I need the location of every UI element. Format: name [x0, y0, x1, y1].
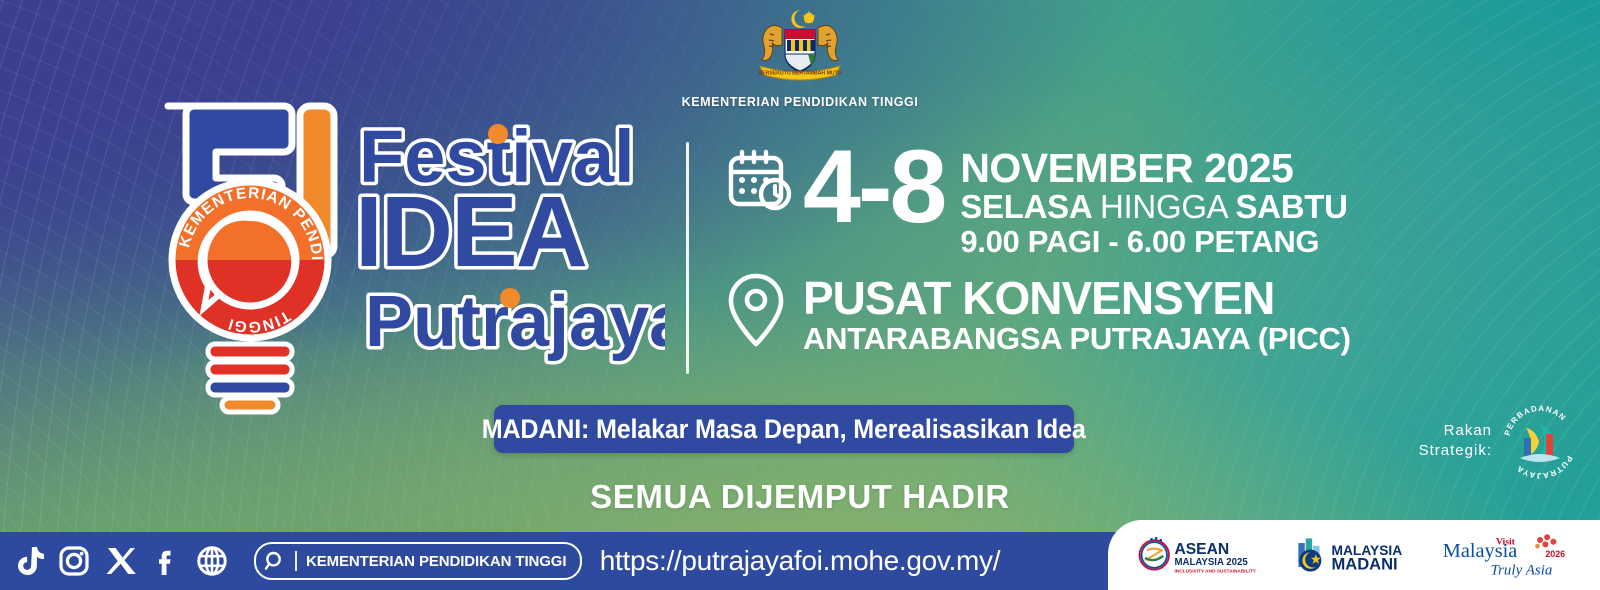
- pp-ring-top: PERBADANAN: [1503, 404, 1568, 437]
- venue-line-1: PUSAT KONVENSYEN: [803, 275, 1351, 321]
- asean-line-1: ASEAN: [1175, 541, 1230, 558]
- tiktok-icon[interactable]: [10, 543, 46, 579]
- putrajaya-j-dot: [500, 288, 520, 308]
- vertical-divider: [686, 142, 689, 374]
- event-month-year: NOVEMBER 2025: [960, 148, 1347, 189]
- rakan-line-2: Strategik:: [1419, 441, 1492, 461]
- festival-i-dot: [488, 124, 508, 144]
- malaysia-madani-logo: MALAYSIA MADANI: [1291, 532, 1420, 578]
- venue-line-2: ANTARABANGSA PUTRAJAYA (PICC): [803, 321, 1351, 358]
- date-row: 4-8 NOVEMBER 2025 SELASA HINGGA SABTU 9.…: [725, 146, 1425, 259]
- map-pin-icon: [725, 271, 787, 349]
- madani-line-2: MADANI: [1332, 555, 1398, 574]
- event-details: 4-8 NOVEMBER 2025 SELASA HINGGA SABTU 9.…: [725, 146, 1425, 358]
- rakan-line-1: Rakan: [1419, 421, 1492, 441]
- svg-text:BERSEKUTU BERTAMBAH MUTU: BERSEKUTU BERTAMBAH MUTU: [758, 71, 841, 77]
- facebook-icon[interactable]: [148, 543, 184, 579]
- madani-tagline-banner: MADANI: Melakar Masa Depan, Merealisasik…: [494, 405, 1074, 453]
- visit-malaysia-2026-logo: Malaysia Visit 2026 Truly Asia: [1441, 532, 1574, 578]
- event-banner: BERSEKUTU BERTAMBAH MUTU KEMENTERIAN PEN…: [0, 0, 1600, 590]
- x-twitter-icon[interactable]: [102, 543, 138, 579]
- event-dates: 4-8: [803, 140, 944, 236]
- event-days: SELASA HINGGA SABTU: [960, 189, 1347, 225]
- event-time: 9.00 PAGI - 6.00 PETANG: [960, 225, 1347, 260]
- perbadanan-putrajaya-logo: PERBADANAN PUTRAJAYA: [1502, 398, 1578, 484]
- pill-separator: [295, 551, 297, 571]
- search-handle-text: KEMENTERIAN PENDIDIKAN TINGGI: [306, 553, 566, 570]
- asean-line-2: MALAYSIA 2025: [1175, 557, 1249, 568]
- invitation-text: SEMUA DIJEMPUT HADIR: [0, 478, 1600, 516]
- date-text-block: NOVEMBER 2025 SELASA HINGGA SABTU 9.00 P…: [960, 146, 1347, 259]
- vm-line-truly-asia: Truly Asia: [1490, 562, 1552, 578]
- asean-line-3: INCLUSIVITY AND SUSTAINABILITY: [1175, 568, 1257, 574]
- vm-line-visit: Visit: [1496, 536, 1516, 547]
- wordmark-line-idea: IDEA: [355, 176, 586, 288]
- festival-idea-putrajaya-wordmark: Festival IDEA Putrajaya: [355, 120, 665, 380]
- search-handle-pill[interactable]: KEMENTERIAN PENDIDIKAN TINGGI: [254, 542, 582, 580]
- strategic-partner-block: Rakan Strategik: PERBADANAN PUTRAJAYA: [1419, 398, 1578, 484]
- fi-monogram-lightbulb-icon: KEMENTERIAN PENDIDIKAN TINGGI: [150, 92, 350, 422]
- venue-text-block: PUSAT KONVENSYEN ANTARABANGSA PUTRAJAYA …: [803, 271, 1351, 358]
- madani-tagline-text: MADANI: Melakar Masa Depan, Merealisasik…: [482, 414, 1086, 445]
- malaysia-coat-of-arms-icon: BERSEKUTU BERTAMBAH MUTU: [742, 4, 858, 88]
- days-prefix: SELASA: [960, 188, 1100, 225]
- instagram-icon[interactable]: [56, 543, 92, 579]
- strategic-partner-label: Rakan Strategik:: [1419, 421, 1492, 462]
- vm-line-2026: 2026: [1545, 549, 1565, 559]
- partner-logos-plate: ASEAN MALAYSIA 2025 INCLUSIVITY AND SUST…: [1108, 520, 1600, 590]
- asean-malaysia-2025-logo: ASEAN MALAYSIA 2025 INCLUSIVITY AND SUST…: [1134, 532, 1270, 578]
- calendar-clock-icon: [725, 146, 795, 216]
- social-links: KEMENTERIAN PENDIDIKAN TINGGI: [10, 542, 582, 580]
- days-suffix: SABTU: [1235, 188, 1347, 225]
- globe-website-icon[interactable]: [194, 543, 230, 579]
- days-middle: HINGGA: [1100, 188, 1235, 225]
- svg-text:PERBADANAN: PERBADANAN: [1503, 404, 1568, 437]
- venue-row: PUSAT KONVENSYEN ANTARABANGSA PUTRAJAYA …: [725, 271, 1425, 358]
- festival-idea-logo-lockup: KEMENTERIAN PENDIDIKAN TINGGI Festival I…: [150, 92, 670, 422]
- search-icon: [264, 550, 286, 572]
